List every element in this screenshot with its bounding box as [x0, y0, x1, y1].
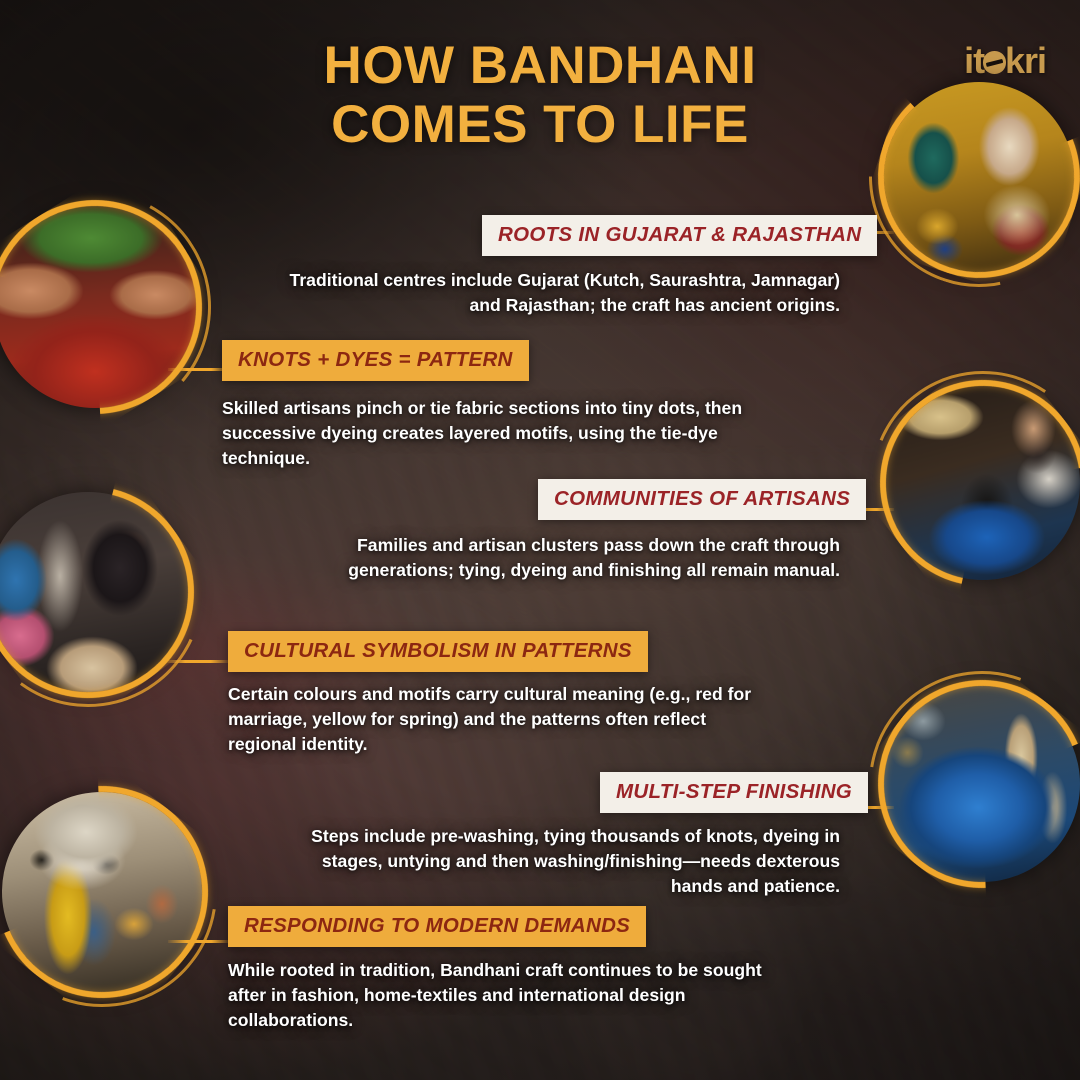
brand-logo: itkri	[964, 40, 1046, 82]
section-label-knots-dyes: KNOTS + DYES = PATTERN	[222, 340, 529, 381]
photo-dyer-blue-tub-image	[886, 386, 1080, 580]
section-label-symbolism-text: CULTURAL SYMBOLISM IN PATTERNS	[244, 639, 632, 662]
section-label-roots: ROOTS IN GUJARAT & RAJASTHAN	[482, 215, 877, 256]
infographic-poster: HOW BANDHANI COMES TO LIFE itkri ROOTS I…	[0, 0, 1080, 1080]
section-body-communities: Families and artisan clusters pass down …	[250, 533, 840, 583]
section-label-communities-text: COMMUNITIES OF ARTISANS	[554, 487, 850, 510]
connector-line-knots	[168, 368, 230, 371]
photo-hands-red-fabric	[0, 206, 196, 408]
section-body-finishing: Steps include pre-washing, tying thousan…	[300, 824, 840, 899]
logo-o-mark-icon	[983, 51, 1005, 73]
section-label-communities: COMMUNITIES OF ARTISANS	[538, 479, 866, 520]
section-label-finishing-text: MULTI-STEP FINISHING	[616, 780, 852, 803]
section-label-roots-text: ROOTS IN GUJARAT & RAJASTHAN	[498, 223, 861, 246]
photo-women-artisans-cluster	[0, 492, 188, 692]
section-body-symbolism: Certain colours and motifs carry cultura…	[228, 682, 768, 757]
logo-text-post: kri	[1005, 40, 1046, 81]
section-label-symbolism: CULTURAL SYMBOLISM IN PATTERNS	[228, 631, 648, 672]
photo-lifting-yellow-cloth-image	[2, 792, 202, 992]
section-body-knots-dyes: Skilled artisans pinch or tie fabric sec…	[222, 396, 752, 471]
logo-text-pre: it	[964, 40, 984, 81]
connector-line-modern	[168, 940, 230, 943]
photo-women-tying-sari	[884, 82, 1074, 272]
section-body-roots: Traditional centres include Gujarat (Kut…	[260, 268, 840, 318]
photo-dyer-blue-tub	[886, 386, 1080, 580]
section-label-modern-demands: RESPONDING TO MODERN DEMANDS	[228, 906, 646, 947]
connector-line-symbolism	[166, 660, 230, 663]
section-label-finishing: MULTI-STEP FINISHING	[600, 772, 868, 813]
section-body-modern-demands: While rooted in tradition, Bandhani craf…	[228, 958, 788, 1033]
photo-hands-red-fabric-image	[0, 206, 196, 408]
photo-lifting-yellow-cloth	[2, 792, 202, 992]
photo-women-artisans-cluster-image	[0, 492, 188, 692]
photo-women-tying-sari-image	[884, 82, 1074, 272]
photo-indigo-vat	[884, 686, 1080, 882]
photo-indigo-vat-image	[884, 686, 1080, 882]
section-label-modern-demands-text: RESPONDING TO MODERN DEMANDS	[244, 914, 630, 937]
section-label-knots-dyes-text: KNOTS + DYES = PATTERN	[238, 348, 513, 371]
